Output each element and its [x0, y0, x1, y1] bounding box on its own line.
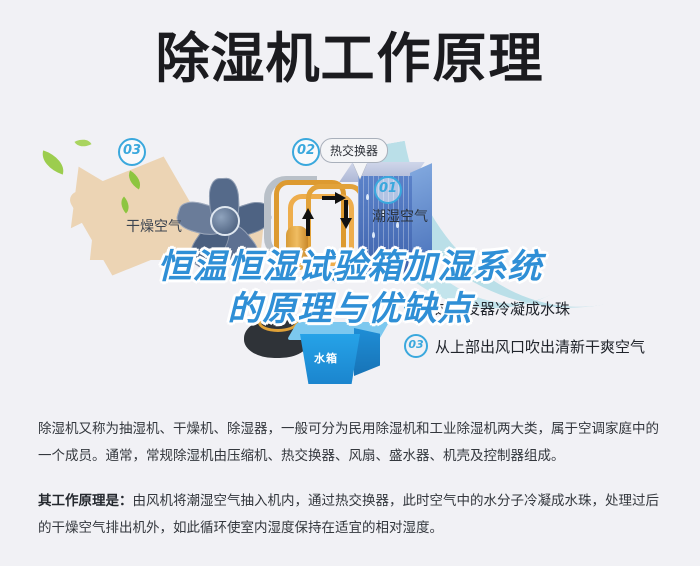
step-badge-03: 03 [404, 334, 428, 358]
humid-air-label: 潮湿空气 [372, 206, 428, 226]
flow-arrow-right-icon [335, 192, 346, 204]
diagram-badge-03: 03 [118, 138, 146, 166]
water-droplet-icon [364, 258, 367, 264]
title-band: 除湿机工作原理 [0, 0, 700, 120]
water-tank-label: 水箱 [314, 350, 338, 366]
receiver-cylinder [286, 226, 308, 270]
water-droplet-icon [366, 194, 369, 200]
dehumidifier-diagram: 水箱 03 02 01 热交换器 干燥空气 潮湿空气 02 过蒸发器冷凝成水珠 … [0, 118, 700, 400]
diagram-step-item: 02 过蒸发器冷凝成水珠 [404, 296, 696, 320]
diagram-badge-02: 02 [292, 138, 320, 166]
page-title-part2: 工作原理 [321, 27, 545, 90]
flow-arrow-stem [322, 196, 336, 200]
diagram-steps-list: 02 过蒸发器冷凝成水珠 03 从上部出风口吹出清新干爽空气 [404, 296, 696, 372]
diagram-badge-01: 01 [374, 176, 402, 204]
water-droplet-icon [372, 232, 375, 238]
water-droplet-icon [390, 254, 393, 260]
step-text-02: 过蒸发器冷凝成水珠 [435, 298, 570, 319]
fan-hub [210, 206, 240, 236]
body-paragraph-1: 除湿机又称为抽湿机、干燥机、除湿器，一般可分为民用除湿机和工业除湿机两大类，属于… [38, 416, 664, 470]
diagram-step-item: 03 从上部出风口吹出清新干爽空气 [404, 334, 696, 358]
step-text-03: 从上部出风口吹出清新干爽空气 [435, 336, 645, 357]
body-paragraph-2: 其工作原理是：由风机将潮湿空气抽入机内，通过热交换器，此时空气中的水分子冷凝成水… [38, 488, 664, 542]
page-title-part1: 除湿机 [156, 27, 321, 90]
flow-arrow-down-icon [340, 218, 352, 229]
step-badge-02: 02 [404, 296, 428, 320]
page-title: 除湿机工作原理 [0, 28, 700, 90]
article-page: 除湿机工作原理 [0, 0, 700, 566]
article-body: 除湿机又称为抽湿机、干燥机、除湿器，一般可分为民用除湿机和工业除湿机两大类，属于… [38, 416, 664, 560]
flow-arrow-stem [306, 218, 310, 236]
heat-exchanger-callout: 热交换器 [320, 138, 388, 163]
flow-arrow-up-icon [302, 208, 314, 219]
water-tank-illustration: 水箱 [292, 322, 388, 394]
body-paragraph-2-lead: 其工作原理是： [38, 493, 133, 509]
leaf-icon [74, 135, 91, 150]
dry-air-label: 干燥空气 [126, 216, 182, 236]
air-intake-arrow-stem [338, 271, 378, 279]
